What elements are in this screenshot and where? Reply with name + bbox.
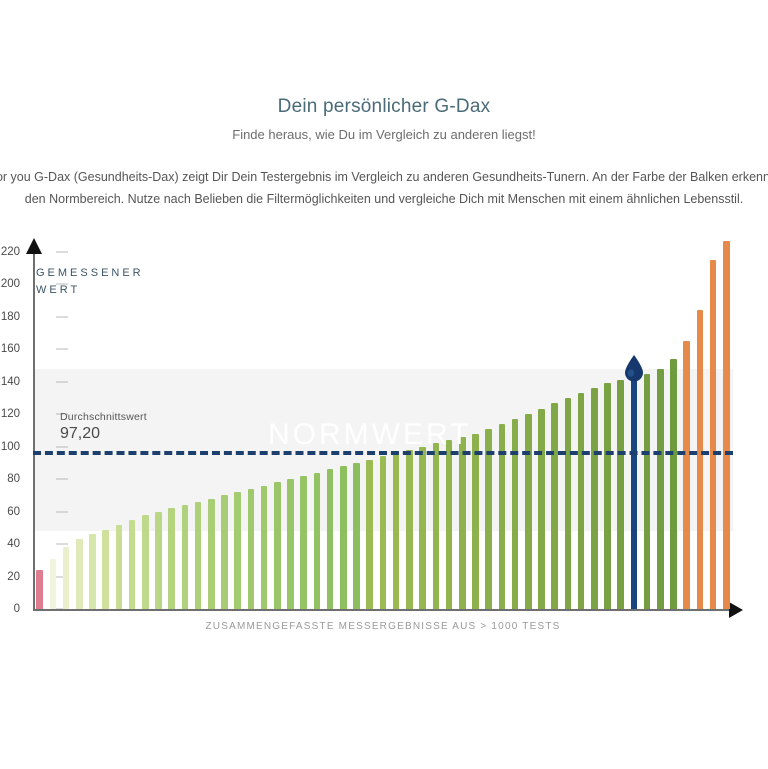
- bar[interactable]: [366, 460, 373, 609]
- bar[interactable]: [208, 499, 215, 609]
- bar[interactable]: [617, 380, 624, 609]
- bar[interactable]: [314, 473, 321, 609]
- bar[interactable]: [591, 388, 598, 609]
- bar[interactable]: [287, 479, 294, 609]
- bar[interactable]: [221, 495, 228, 609]
- bar[interactable]: [644, 374, 651, 609]
- y-axis-tick-label: 160: [0, 343, 20, 355]
- bar[interactable]: [261, 486, 268, 609]
- bar[interactable]: [578, 393, 585, 609]
- bar-highlighted-user[interactable]: [631, 380, 638, 609]
- bar[interactable]: [512, 419, 519, 609]
- bar[interactable]: [472, 434, 479, 609]
- bar[interactable]: [419, 447, 426, 609]
- y-axis-tick-label: 200: [0, 278, 20, 290]
- bar[interactable]: [446, 440, 453, 609]
- bar[interactable]: [300, 476, 307, 609]
- bar[interactable]: [116, 525, 123, 609]
- bar[interactable]: [683, 341, 690, 609]
- bar[interactable]: [433, 443, 440, 609]
- average-value: 97,20: [60, 425, 100, 443]
- bar[interactable]: [604, 383, 611, 609]
- page-title: Dein persönlicher G-Dax: [0, 96, 768, 118]
- y-axis-tick-label: 20: [0, 571, 20, 583]
- page-subtitle: Finde heraus, wie Du im Vergleich zu and…: [0, 127, 768, 142]
- y-axis-tick-label: 220: [0, 246, 20, 258]
- average-line: [33, 451, 733, 455]
- bar[interactable]: [155, 512, 162, 609]
- bar[interactable]: [485, 429, 492, 609]
- bar[interactable]: [89, 534, 96, 609]
- bar[interactable]: [168, 508, 175, 609]
- bar[interactable]: [670, 359, 677, 609]
- y-axis-tick-label: 40: [0, 538, 20, 550]
- bar[interactable]: [36, 570, 43, 609]
- y-axis-tick-label: 140: [0, 376, 20, 388]
- bar[interactable]: [538, 409, 545, 609]
- chart-plot-area: NORMWERT 020406080100120140160180200220 …: [0, 238, 768, 658]
- y-axis-tick-label: 60: [0, 506, 20, 518]
- water-drop-marker-icon: [623, 354, 645, 382]
- bar[interactable]: [274, 482, 281, 609]
- bar[interactable]: [50, 559, 57, 609]
- bar[interactable]: [248, 489, 255, 609]
- bar[interactable]: [142, 515, 149, 609]
- bar[interactable]: [551, 403, 558, 609]
- bar[interactable]: [327, 469, 334, 609]
- bar[interactable]: [340, 466, 347, 609]
- x-axis-line: [33, 609, 733, 611]
- bar[interactable]: [406, 450, 413, 609]
- bar[interactable]: [234, 492, 241, 609]
- gdax-chart: NORMWERT 020406080100120140160180200220 …: [0, 238, 768, 658]
- bar[interactable]: [393, 453, 400, 609]
- average-caption: Durchschnittswert: [60, 411, 147, 423]
- bar[interactable]: [353, 463, 360, 609]
- page-header: Dein persönlicher G-Dax Finde heraus, wi…: [0, 0, 768, 238]
- bar[interactable]: [710, 260, 717, 609]
- bar[interactable]: [380, 456, 387, 609]
- bar[interactable]: [459, 437, 466, 609]
- y-axis-tick-label: 0: [0, 603, 20, 615]
- bar[interactable]: [63, 547, 70, 609]
- bar[interactable]: [723, 241, 730, 609]
- bar[interactable]: [76, 539, 83, 609]
- bar[interactable]: [697, 310, 704, 609]
- bar[interactable]: [565, 398, 572, 609]
- y-axis-tick-label: 100: [0, 441, 20, 453]
- bar[interactable]: [195, 502, 202, 609]
- x-axis-caption: ZUSAMMENGEFASSTE MESSERGEBNISSE AUS > 10…: [33, 621, 733, 632]
- y-axis-tick-label: 80: [0, 473, 20, 485]
- y-axis-tick-label: 180: [0, 311, 20, 323]
- y-axis-tick-label: 120: [0, 408, 20, 420]
- bar[interactable]: [525, 414, 532, 609]
- bar[interactable]: [129, 520, 136, 609]
- bar[interactable]: [182, 505, 189, 609]
- bar-series: [33, 252, 733, 609]
- bar[interactable]: [657, 369, 664, 609]
- intro-paragraph: Der for you G-Dax (Gesundheits-Dax) zeig…: [0, 166, 768, 210]
- bar[interactable]: [102, 530, 109, 610]
